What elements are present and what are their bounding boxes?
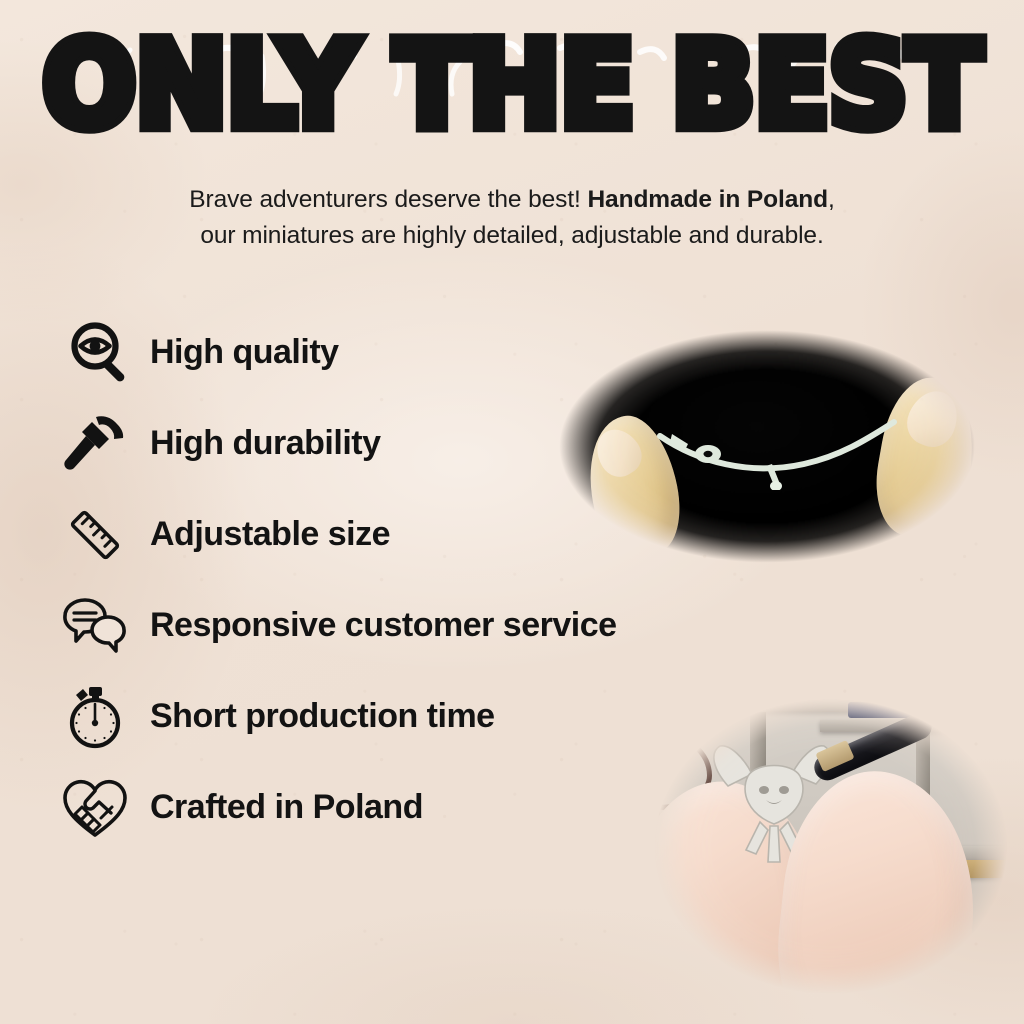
poster-canvas: ONLY THE BEST Brave adventurers deserve …	[0, 0, 1024, 1024]
stopwatch-icon	[58, 680, 132, 754]
ruler-icon	[58, 498, 132, 572]
subtitle-line1-suffix: ,	[828, 186, 835, 213]
feature-item-high-quality: High quality	[58, 307, 758, 398]
feature-item-adjustable-size: Adjustable size	[58, 489, 758, 580]
subtitle-line1-prefix: Brave adventurers deserve the best!	[189, 186, 587, 213]
page-title: ONLY THE BEST	[43, 29, 982, 143]
feature-label: Adjustable size	[150, 515, 390, 554]
feature-label: Short production time	[150, 697, 495, 736]
feature-label: High durability	[150, 424, 381, 463]
heart-handshake-icon	[58, 771, 132, 845]
subtitle-line1-bold: Handmade in Poland	[587, 186, 828, 213]
subtitle: Brave adventurers deserve the best! Hand…	[62, 182, 962, 254]
feature-list: High quality High durability	[58, 307, 758, 853]
feature-label: High quality	[150, 333, 339, 372]
magnifier-eye-icon	[58, 316, 132, 390]
headline-container: ONLY THE BEST	[0, 36, 1024, 136]
feature-item-production-time: Short production time	[58, 671, 758, 762]
feature-item-customer-service: Responsive customer service	[58, 580, 758, 671]
subtitle-line2: our miniatures are highly detailed, adju…	[200, 222, 823, 249]
feature-label: Crafted in Poland	[150, 788, 423, 827]
hammer-icon	[58, 407, 132, 481]
chat-bubbles-icon	[58, 589, 132, 663]
feature-item-crafted-in-poland: Crafted in Poland	[58, 762, 758, 853]
feature-item-high-durability: High durability	[58, 398, 758, 489]
feature-label: Responsive customer service	[150, 606, 617, 645]
